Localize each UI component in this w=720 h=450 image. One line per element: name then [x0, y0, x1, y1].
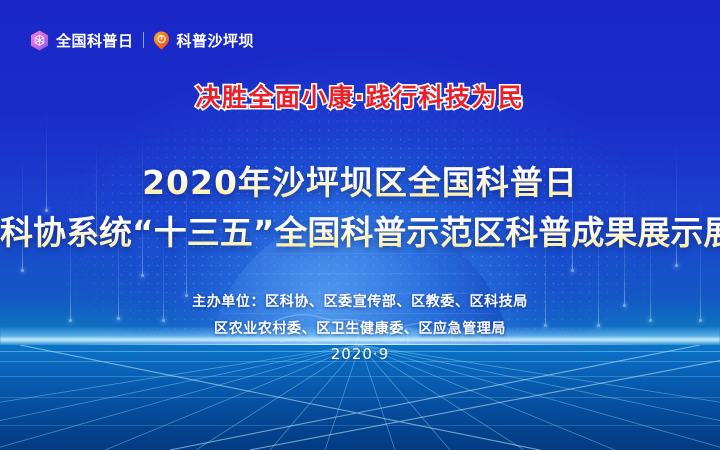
organizer-line-1: 主办单位：区科协、区委宣传部、区教委、区科技局: [0, 291, 720, 311]
logo-divider: [143, 32, 144, 48]
brand-name-primary: 全国科普日: [56, 30, 134, 51]
main-title-line-1: 2020年沙坪坝区全国科普日: [0, 156, 720, 204]
slogan-text: 决胜全面小康·践行科技为民: [0, 78, 720, 114]
hexagon-cube-icon: [30, 30, 49, 51]
orange-circle-icon: [153, 31, 170, 50]
main-title-line-2: 科协系统“十三五”全国科普示范区科普成果展示展评: [0, 206, 720, 254]
organizer-line-2: 区农业农村委、区卫生健康委、区应急管理局: [0, 318, 720, 338]
logo-bar: 全国科普日 科普沙坪坝: [30, 27, 254, 53]
event-poster: 全国科普日 科普沙坪坝 决胜全面小康·践行科技为民 2020年沙坪坝区全国科普日…: [0, 0, 720, 450]
event-date: 2020·9: [0, 345, 720, 363]
brand-name-secondary: 科普沙坪坝: [177, 30, 255, 51]
